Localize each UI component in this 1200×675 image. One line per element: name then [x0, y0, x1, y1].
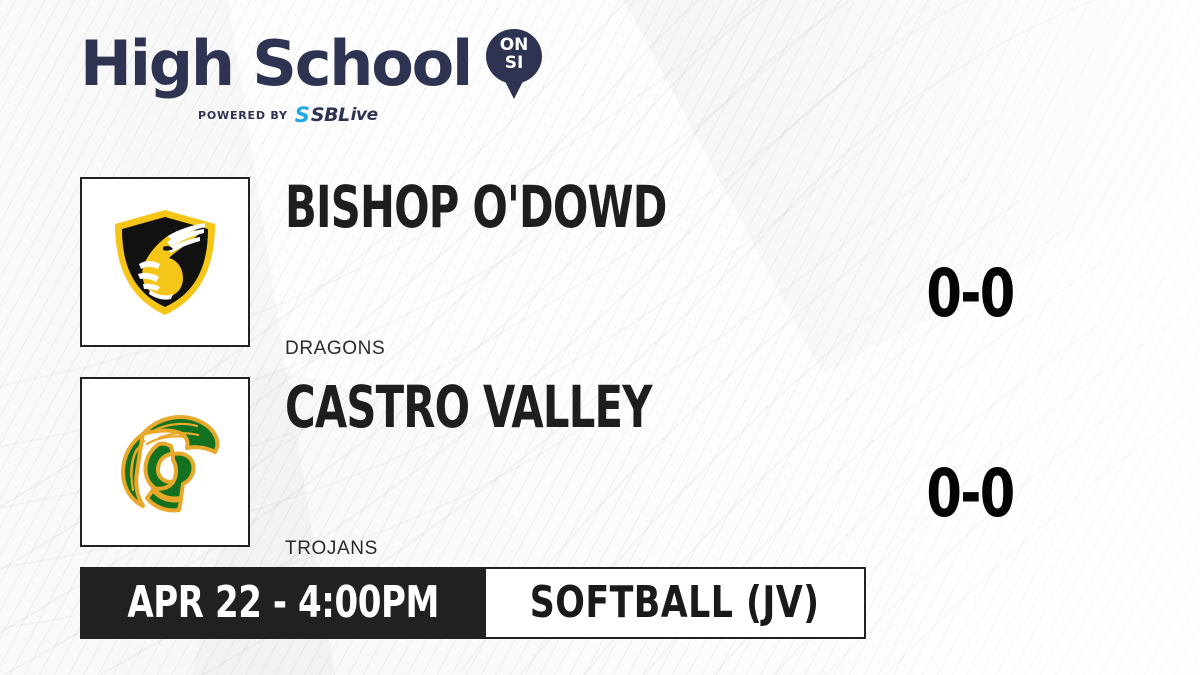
game-sport-badge: SOFTBALL (JV) [486, 567, 865, 639]
sblive-s-mark-icon: S [295, 105, 308, 126]
game-sport-label: SOFTBALL (JV) [530, 581, 820, 625]
pin-label-line-2: SI [485, 54, 543, 72]
home-team-record: 0-0 [901, 461, 1039, 527]
pin-label-line-1: ON [485, 37, 543, 54]
home-team-logo-box[interactable] [80, 377, 250, 547]
location-pin-icon: ON SI [485, 28, 543, 100]
trojan-helmet-logo [103, 404, 227, 520]
away-team-logo-box[interactable] [80, 177, 250, 347]
game-datetime-label: APR 22 - 4:00PM [127, 581, 439, 625]
sblive-wordmark-ive: ive [351, 107, 378, 124]
scoreboard-graphic: High School ON SI POWERED BY S SBL ive [0, 0, 1200, 675]
brand-wordmark: High School [80, 33, 471, 95]
dragon-shield-logo [105, 202, 225, 322]
away-team-name: BISHOP O'DOWD [285, 178, 667, 236]
home-team-name: CASTRO VALLEY [285, 378, 652, 436]
away-team-record: 0-0 [901, 261, 1039, 327]
sblive-logo[interactable]: S SBL ive [295, 105, 378, 126]
game-info-bar: APR 22 - 4:00PM SOFTBALL (JV) [80, 567, 866, 639]
sblive-wordmark-sbl: SBL [311, 106, 350, 125]
brand-logo-row: High School ON SI [80, 28, 510, 100]
powered-by-label: POWERED BY [198, 109, 288, 122]
brand-logo[interactable]: High School ON SI POWERED BY S SBL ive [80, 28, 510, 138]
pin-label: ON SI [485, 37, 543, 72]
powered-by-row: POWERED BY S SBL ive [80, 105, 510, 126]
away-team-mascot: DRAGONS [285, 339, 385, 358]
game-datetime-badge: APR 22 - 4:00PM [80, 567, 486, 639]
home-team-mascot: TROJANS [285, 539, 378, 558]
